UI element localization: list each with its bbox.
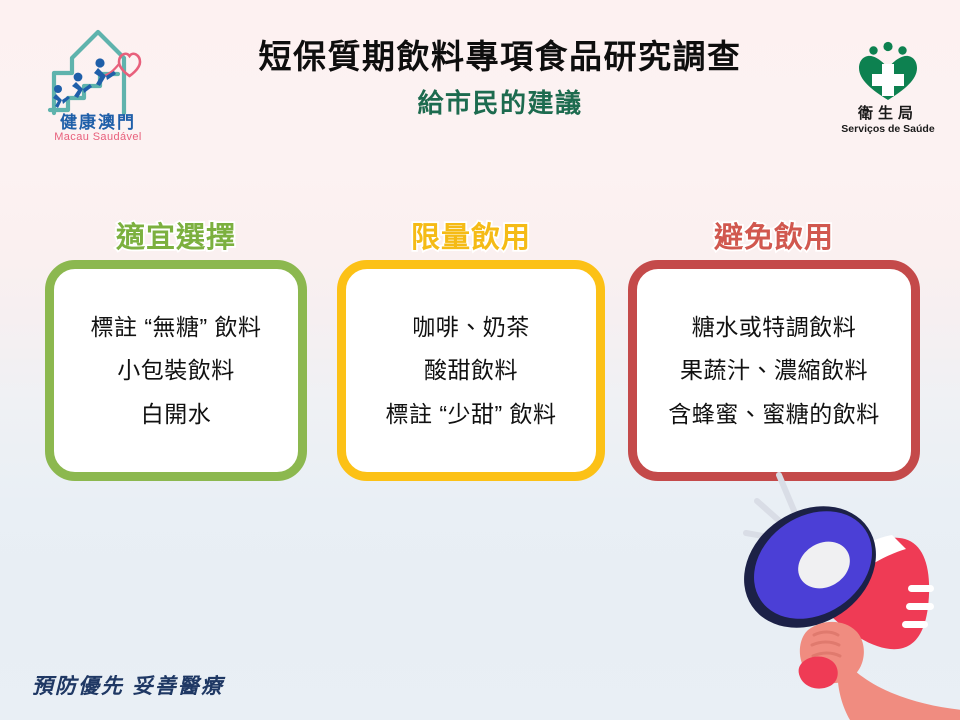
title-block: 短保質期飲料專項食品研究調查 給市民的建議 (170, 38, 830, 120)
slide-canvas: 健康澳門 Macau Saudável 衛生局 Serviços de Saúd… (0, 0, 960, 720)
health-bureau-portuguese-text: Serviços de Saúde (841, 123, 935, 135)
card-line: 含蜂蜜、蜜糖的飲料 (668, 401, 880, 427)
card-title-limited: 限量飲用 (340, 214, 602, 256)
card-avoid: 糖水或特調飲料 果蔬汁、濃縮飲料 含蜂蜜、蜜糖的飲料 (628, 260, 920, 481)
card-suitable: 標註 “無糖” 飲料 小包裝飲料 白開水 (45, 260, 307, 481)
macau-logo-chinese-text: 健康澳門 (60, 112, 136, 132)
wrist-cuff (799, 657, 838, 689)
card-line: 白開水 (141, 401, 212, 427)
card-line: 酸甜飲料 (424, 357, 518, 383)
servicos-de-saude-logo: 衛生局 Serviços de Saúde (828, 28, 948, 138)
macau-logo-portuguese-text: Macau Saudável (54, 131, 142, 143)
footer-slogan: 預防優先 妥善醫療 (32, 670, 224, 700)
advice-cards-group: 適宜選擇 標註 “無糖” 飲料 小包裝飲料 白開水 限量飲用 咖啡、奶茶 酸甜飲… (0, 214, 960, 489)
megaphone-in-hand-illustration (700, 455, 960, 720)
card-title-suitable: 適宜選擇 (48, 214, 304, 256)
page-subtitle: 給市民的建議 (170, 83, 830, 120)
card-limited: 咖啡、奶茶 酸甜飲料 標註 “少甜” 飲料 (337, 260, 605, 481)
card-line: 標註 “無糖” 飲料 (90, 314, 261, 340)
card-line: 果蔬汁、濃縮飲料 (680, 357, 868, 383)
card-title-avoid: 避免飲用 (630, 214, 918, 256)
card-line: 糖水或特調飲料 (692, 314, 857, 340)
card-line: 標註 “少甜” 飲料 (385, 401, 556, 427)
health-bureau-chinese-text: 衛生局 (857, 104, 918, 122)
card-line: 咖啡、奶茶 (412, 314, 530, 340)
page-title: 短保質期飲料專項食品研究調查 (170, 38, 830, 77)
card-line: 小包裝飲料 (117, 357, 235, 383)
macau-saudavel-logo: 健康澳門 Macau Saudável (28, 18, 168, 143)
